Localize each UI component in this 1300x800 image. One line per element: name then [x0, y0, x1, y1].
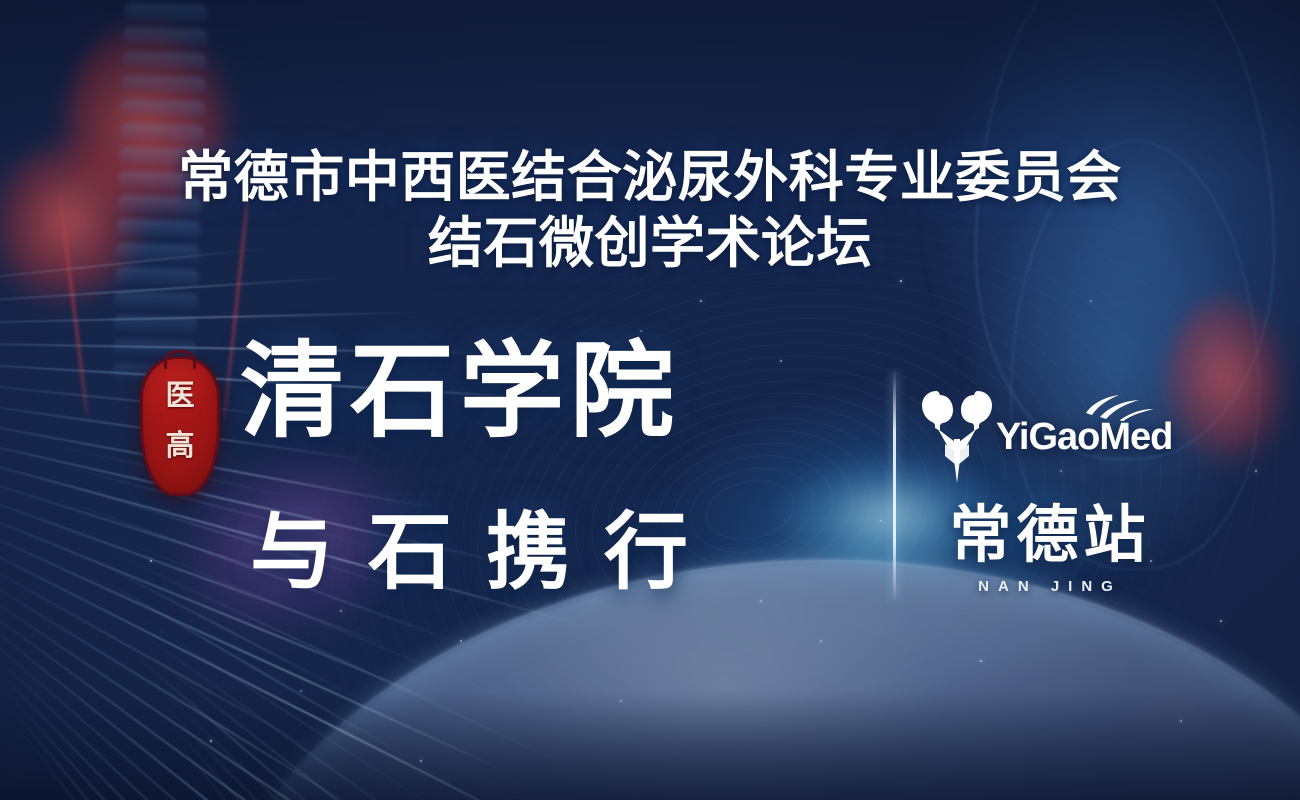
brand-seal: 医 高 — [140, 356, 220, 496]
seal-shape — [140, 356, 220, 496]
seal-char-bottom: 高 — [140, 432, 220, 461]
brand-tagline: 与石携行 — [250, 510, 870, 594]
sponsor-logo: YiGaoMed — [918, 385, 1188, 485]
headline-line-1: 常德市中西医结合泌尿外科专业委员会 — [0, 148, 1300, 206]
event-headline: 常德市中西医结合泌尿外科专业委员会 结石微创学术论坛 — [0, 148, 1300, 273]
poster-content: 常德市中西医结合泌尿外科专业委员会 结石微创学术论坛 医 高 清石学院 与石携行 — [0, 0, 1300, 800]
sponsor-name: YiGaoMed — [996, 418, 1172, 456]
brand-name: 清石学院 — [240, 340, 870, 444]
poster-canvas: 常德市中西医结合泌尿外科专业委员会 结石微创学术论坛 医 高 清石学院 与石携行 — [0, 0, 1300, 800]
kidney-pen-icon — [918, 387, 996, 483]
headline-line-2: 结石微创学术论坛 — [0, 214, 1300, 272]
station-name: 常德站 — [905, 505, 1195, 567]
swoosh-icon — [1080, 387, 1158, 421]
vertical-divider — [893, 372, 896, 600]
seal-char-top: 医 — [140, 382, 220, 411]
station-name-en: NAN JING — [905, 578, 1195, 595]
